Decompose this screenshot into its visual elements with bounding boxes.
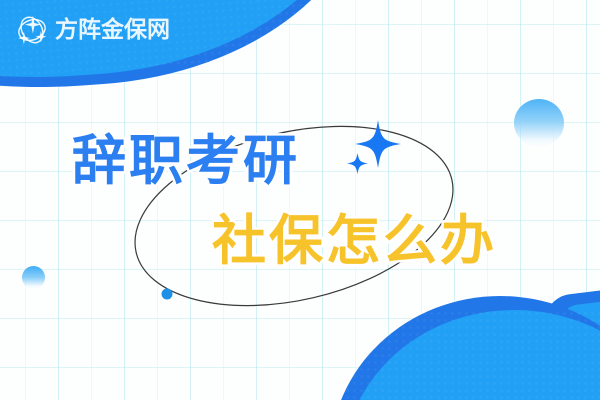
small-sparkle-icon [347,153,368,174]
site-logo[interactable]: 方阵金保网 [14,12,170,48]
atom-star-emblem-icon [14,12,50,48]
ellipse-decoration-layer [0,0,600,400]
ellipse-marker-dot [162,289,173,300]
tilted-ellipse-outline [117,98,470,335]
promo-banner: 方阵金保网 辞职考研 社保怎么办 [0,0,600,400]
logo-text: 方阵金保网 [55,19,170,42]
